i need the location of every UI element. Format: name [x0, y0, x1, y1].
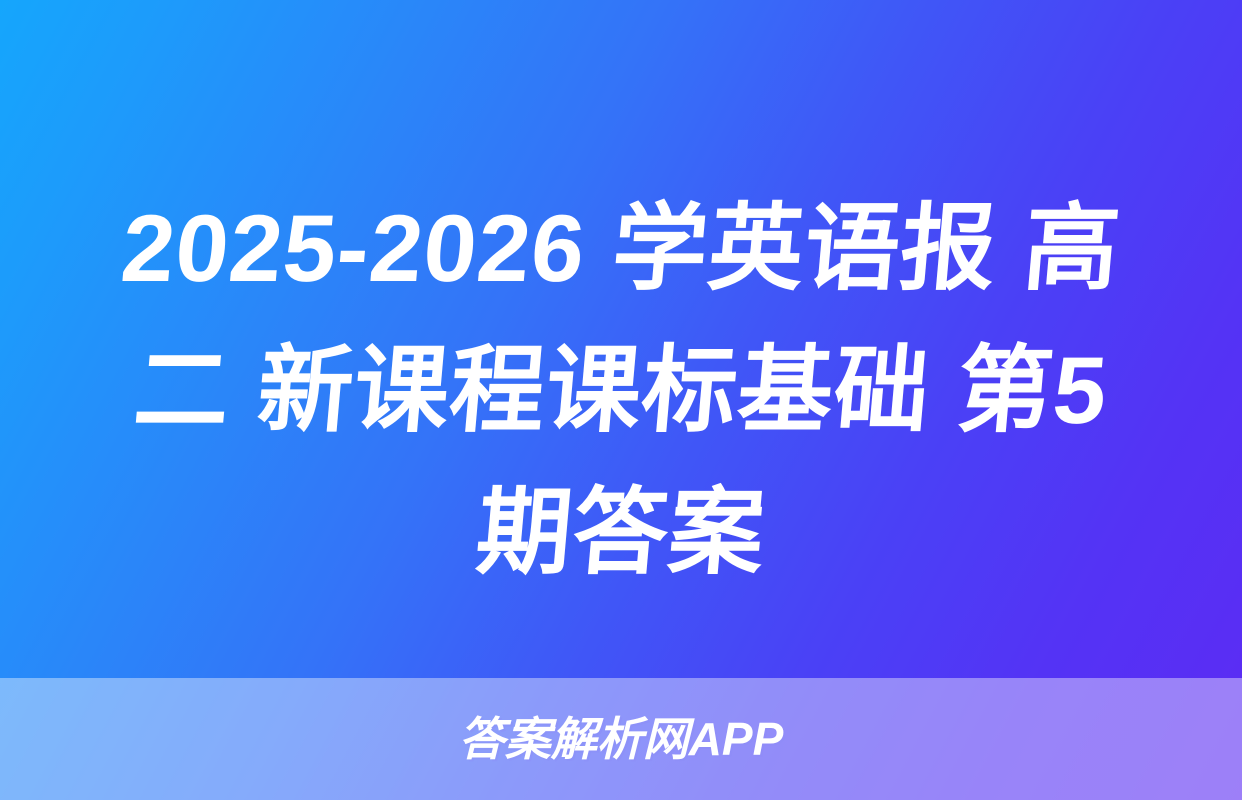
title-line-1: 2025-2026 学英语报 高	[18, 178, 1224, 320]
title-line-2: 二 新课程课标基础 第5	[18, 320, 1224, 462]
page-title: 2025-2026 学英语报 高 二 新课程课标基础 第5 期答案	[0, 178, 1242, 604]
footer-brand-band: 答案解析网APP	[0, 678, 1242, 800]
answer-poster: 2025-2026 学英语报 高 二 新课程课标基础 第5 期答案 答案解析网A…	[0, 0, 1242, 800]
title-line-3: 期答案	[18, 462, 1224, 604]
brand-watermark-label: 答案解析网APP	[459, 716, 784, 762]
